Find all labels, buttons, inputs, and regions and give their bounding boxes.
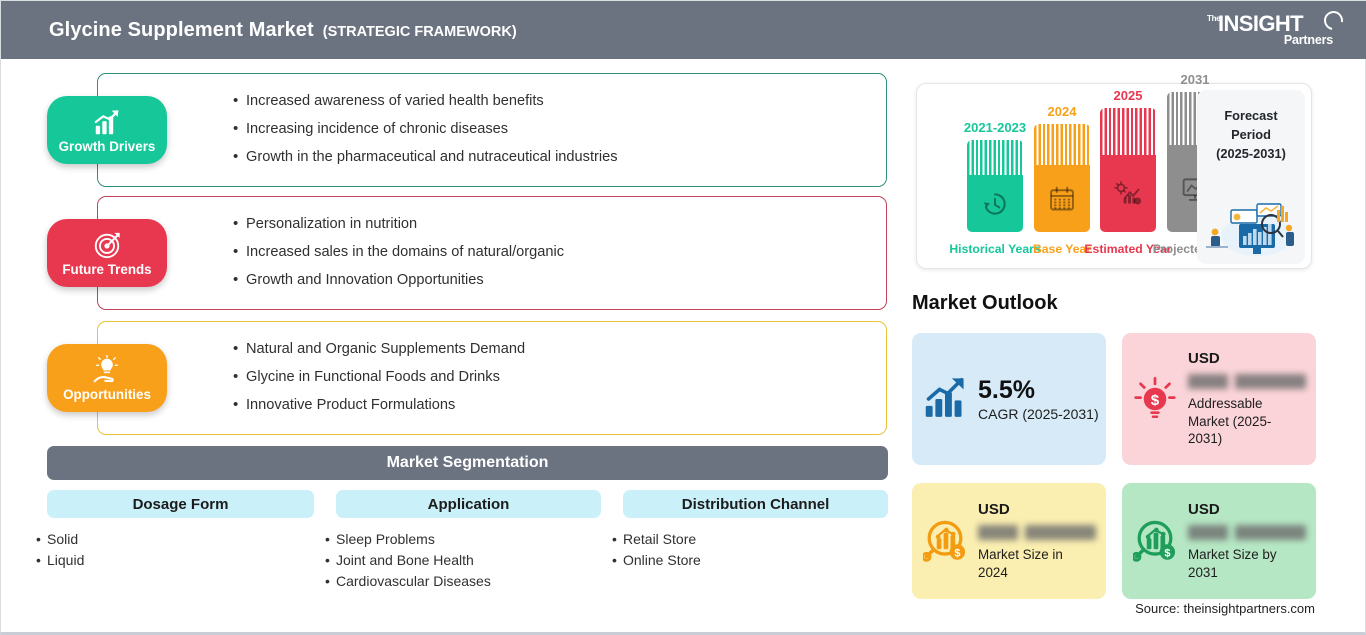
timeline-bar-striped-top: [1100, 108, 1156, 155]
blurred-value: [978, 525, 1096, 540]
outlook-card[interactable]: $USDMarket Size by 2031: [1122, 483, 1316, 599]
market-segmentation-title: Market Segmentation: [47, 446, 888, 480]
magnifier-bar-chart-dollar-icon: $: [1133, 519, 1177, 563]
pillar-row-growth-drivers: Increased awareness of varied health ben…: [47, 73, 888, 187]
forecast-period-text: Forecast Period (2025-2031): [1197, 90, 1305, 163]
timeline-caption: Base Year: [1033, 242, 1091, 256]
pillar-badge-label: Growth Drivers: [59, 139, 156, 154]
pillar-bullet: Natural and Organic Supplements Demand: [246, 335, 886, 363]
timeline-bar: [967, 140, 1023, 232]
segment-item: Online Store: [623, 550, 888, 571]
outlook-card-caption: Market Size in 2024: [978, 546, 1086, 581]
segment-item: Liquid: [47, 550, 314, 571]
pillar-badge-future-trends[interactable]: Future Trends: [47, 219, 167, 287]
segment-item: Joint and Bone Health: [336, 550, 601, 571]
analytics-illustration-icon: [1201, 192, 1301, 258]
pillar-row-opportunities: Natural and Organic Supplements DemandGl…: [47, 321, 888, 435]
timeline-year-label: 2031: [1181, 72, 1210, 87]
page-title: Glycine Supplement Market: [49, 19, 314, 42]
outlook-card-icon-wrap: $: [1122, 519, 1188, 563]
outlook-card-icon-wrap: $: [1122, 377, 1188, 421]
pillar-row-future-trends: Personalization in nutritionIncreased sa…: [47, 196, 888, 310]
svg-text:$: $: [954, 548, 960, 560]
insight-partners-logo: The INSIGHT Partners: [1205, 9, 1345, 53]
segment-item: Retail Store: [623, 529, 888, 550]
infographic-page: Glycine Supplement Market (STRATEGIC FRA…: [0, 0, 1366, 635]
pillar-bullet: Increasing incidence of chronic diseases: [246, 115, 886, 143]
timeline-year-label: 2021-2023: [964, 120, 1026, 135]
outlook-card-text: USDAddressable Market (2025-2031): [1188, 350, 1296, 448]
segment-item: Solid: [47, 529, 314, 550]
timeline-year-label: 2025: [1114, 88, 1143, 103]
outlook-card-text: USDMarket Size in 2024: [978, 501, 1086, 581]
timeline-bar-group: 2021-2023Historical Years: [962, 120, 1028, 256]
outlook-card[interactable]: $USDAddressable Market (2025-2031): [1122, 333, 1316, 465]
pillar-bullet: Increased awareness of varied health ben…: [246, 87, 886, 115]
segment-header: Dosage Form: [47, 490, 314, 518]
segment-header: Application: [336, 490, 601, 518]
timeline-bar-striped-top: [967, 140, 1023, 175]
outlook-card-icon-wrap: $: [912, 519, 978, 563]
target-dart-icon: [92, 230, 122, 260]
outlook-card-caption: Addressable Market (2025-2031): [1188, 395, 1296, 448]
study-timeline-panel: 2021-2023Historical Years2024Base Year20…: [916, 83, 1312, 269]
lightbulb-hand-icon: [92, 355, 122, 385]
outlook-card-caption: Market Size by 2031: [1188, 546, 1296, 581]
pillar-content-box: Increased awareness of varied health ben…: [97, 73, 887, 187]
segment-header: Distribution Channel: [623, 490, 888, 518]
segment-column-dosage-form: Dosage FormSolidLiquid: [47, 490, 314, 571]
page-header: Glycine Supplement Market (STRATEGIC FRA…: [1, 1, 1366, 59]
blurred-value: [1188, 525, 1306, 540]
lightbulb-dollar-icon: $: [1133, 377, 1177, 421]
clock-history-icon: [981, 190, 1009, 218]
timeline-year-label: 2024: [1048, 104, 1077, 119]
logo-arc-icon: [1320, 7, 1346, 33]
pillar-bullet: Growth and Innovation Opportunities: [246, 266, 886, 294]
pillar-badge-label: Opportunities: [63, 387, 151, 402]
pillar-bullet: Innovative Product Formulations: [246, 391, 886, 419]
pillar-bullet: Personalization in nutrition: [246, 210, 886, 238]
logo-partners-text: Partners: [1284, 33, 1333, 47]
magnifier-bar-chart-dollar-icon: $: [923, 519, 967, 563]
source-text: Source: theinsightpartners.com: [1135, 601, 1315, 616]
forecast-period-panel: Forecast Period (2025-2031): [1197, 90, 1305, 264]
timeline-bar-striped-top: [1034, 124, 1090, 165]
timeline-bar-solid: [967, 175, 1023, 232]
svg-text:$: $: [1151, 392, 1160, 409]
cagr-value: 5.5%: [978, 377, 1099, 404]
market-outlook-title: Market Outlook: [912, 292, 1058, 315]
cagr-caption: CAGR (2025-2031): [978, 406, 1099, 422]
segment-column-application: ApplicationSleep ProblemsJoint and Bone …: [336, 490, 601, 592]
bar-chart-arrow-up-icon: [923, 377, 967, 421]
svg-text:$: $: [1164, 548, 1170, 560]
pillar-bullet: Glycine in Functional Foods and Drinks: [246, 363, 886, 391]
blurred-value: [1188, 374, 1306, 389]
pillar-badge-opportunities[interactable]: Opportunities: [47, 344, 167, 412]
forecast-line-3: (2025-2031): [1197, 144, 1305, 163]
outlook-card[interactable]: $USDMarket Size in 2024: [912, 483, 1106, 599]
forecast-line-2: Period: [1197, 125, 1305, 144]
timeline-bar-solid: [1100, 155, 1156, 232]
currency-label: USD: [1188, 501, 1296, 518]
logo-the-text: The: [1207, 15, 1217, 22]
segment-item: Cardiovascular Diseases: [336, 571, 601, 592]
outlook-card[interactable]: 5.5%CAGR (2025-2031): [912, 333, 1106, 465]
calendar-icon: [1048, 185, 1076, 213]
outlook-card-text: 5.5%CAGR (2025-2031): [978, 377, 1099, 422]
forecast-line-1: Forecast: [1197, 106, 1305, 125]
currency-label: USD: [1188, 350, 1296, 367]
bar-chart-growth-icon: [92, 107, 122, 137]
outlook-card-text: USDMarket Size by 2031: [1188, 501, 1296, 581]
pillar-bullet: Growth in the pharmaceutical and nutrace…: [246, 143, 886, 171]
segment-item: Sleep Problems: [336, 529, 601, 550]
currency-label: USD: [978, 501, 1086, 518]
pillar-content-box: Natural and Organic Supplements DemandGl…: [97, 321, 887, 435]
segment-column-distribution-channel: Distribution ChannelRetail StoreOnline S…: [623, 490, 888, 571]
settings-forecast-icon: [1114, 180, 1142, 208]
pillar-content-box: Personalization in nutritionIncreased sa…: [97, 196, 887, 310]
page-subtitle: (STRATEGIC FRAMEWORK): [323, 24, 517, 40]
outlook-card-icon-wrap: [912, 377, 978, 421]
pillar-badge-growth-drivers[interactable]: Growth Drivers: [47, 96, 167, 164]
timeline-bar-group: 2025Estimated Year: [1095, 88, 1161, 256]
timeline-bar: [1100, 108, 1156, 232]
timeline-bar-group: 2024Base Year: [1029, 104, 1095, 256]
timeline-bar: [1034, 124, 1090, 232]
pillar-bullet: Increased sales in the domains of natura…: [246, 238, 886, 266]
timeline-bar-solid: [1034, 165, 1090, 232]
pillar-badge-label: Future Trends: [62, 262, 151, 277]
timeline-caption: Historical Years: [949, 242, 1040, 256]
